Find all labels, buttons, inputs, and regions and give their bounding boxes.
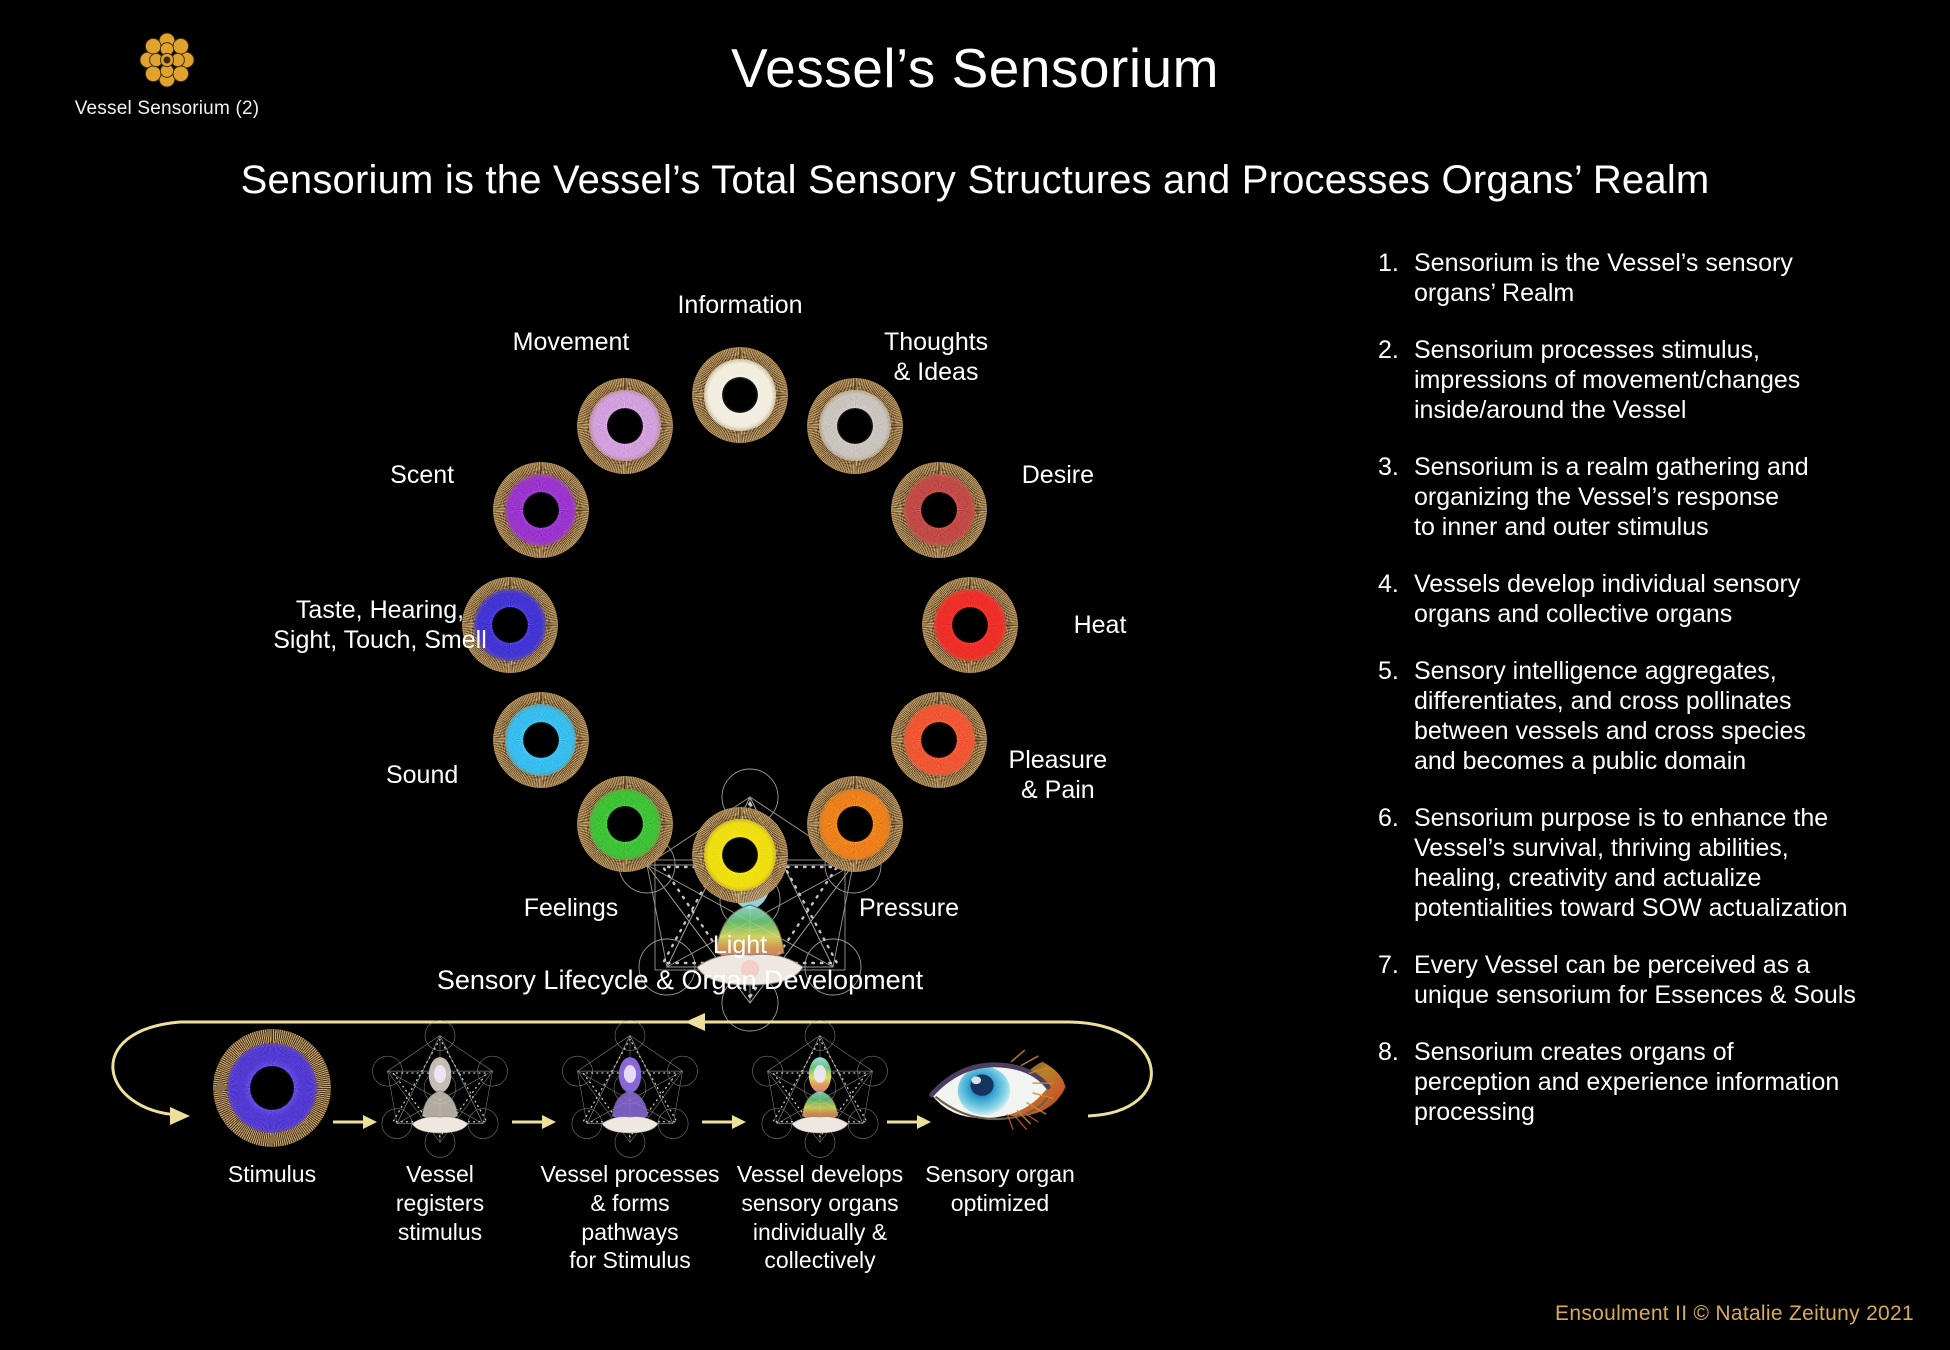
key-point-item: 1.Sensorium is the Vessel’s sensory orga… bbox=[1378, 248, 1938, 308]
lifecycle-step: Stimulus bbox=[182, 1028, 362, 1189]
sensory-eye-icon bbox=[577, 776, 673, 872]
sensory-eye-icon bbox=[692, 347, 788, 443]
metatron-figure-grey-icon bbox=[350, 1028, 530, 1148]
sensory-eye-icon bbox=[922, 577, 1018, 673]
sensory-eye-label: Scent bbox=[390, 460, 454, 490]
lifecycle-step-caption: Stimulus bbox=[182, 1160, 362, 1189]
key-point-item: 6.Sensorium purpose is to enhance the Ve… bbox=[1378, 803, 1938, 923]
key-point-number: 1. bbox=[1378, 248, 1414, 308]
key-point-text: Sensorium processes stimulus, impression… bbox=[1414, 335, 1938, 425]
key-point-number: 7. bbox=[1378, 950, 1414, 1010]
sensory-eye-label: Pressure bbox=[859, 893, 959, 923]
sensory-eye-label: Sound bbox=[386, 760, 458, 790]
sensory-eye-icon bbox=[493, 462, 589, 558]
metatron-figure-violet-icon bbox=[540, 1028, 720, 1148]
key-point-text: Vessels develop individual sensory organ… bbox=[1414, 569, 1938, 629]
sensory-eye-icon bbox=[577, 378, 673, 474]
sensory-eye-label: Heat bbox=[1074, 610, 1127, 640]
sensory-eye-icon bbox=[493, 692, 589, 788]
sensory-eye-label: Feelings bbox=[524, 893, 619, 923]
sensory-eye-label: Light bbox=[713, 930, 767, 960]
sensory-eye-icon bbox=[891, 462, 987, 558]
key-point-item: 7.Every Vessel can be perceived as a uni… bbox=[1378, 950, 1938, 1010]
poster-canvas: Vessel Sensorium (2) Vessel’s Sensorium … bbox=[0, 0, 1950, 1350]
sensory-eye-icon bbox=[807, 378, 903, 474]
page-title: Vessel’s Sensorium bbox=[0, 36, 1950, 100]
key-points-list: 1.Sensorium is the Vessel’s sensory orga… bbox=[1378, 248, 1938, 1154]
metatron-figure-rainbow-icon bbox=[730, 1028, 910, 1148]
sensory-eye-wheel: InformationThoughts & IdeasDesireHeatPle… bbox=[150, 300, 1330, 950]
sensory-eye-icon bbox=[692, 807, 788, 903]
sensory-eye-label: Thoughts & Ideas bbox=[884, 327, 988, 387]
lifecycle-step: Vessel processes & forms pathways for St… bbox=[540, 1028, 720, 1275]
lifecycle-step-caption: Sensory organ optimized bbox=[910, 1160, 1090, 1218]
painted-human-eye-icon bbox=[910, 1028, 1090, 1148]
key-point-number: 4. bbox=[1378, 569, 1414, 629]
sensory-eye-label: Desire bbox=[1022, 460, 1094, 490]
sensory-eye-icon bbox=[891, 692, 987, 788]
key-point-text: Sensory intelligence aggregates, differe… bbox=[1414, 656, 1938, 776]
page-subtitle: Sensorium is the Vessel’s Total Sensory … bbox=[60, 158, 1890, 203]
lifecycle-step-caption: Vessel processes & forms pathways for St… bbox=[540, 1160, 720, 1275]
key-point-text: Sensorium purpose is to enhance the Vess… bbox=[1414, 803, 1938, 923]
lifecycle-title: Sensory Lifecycle & Organ Development bbox=[60, 965, 1300, 996]
lifecycle-step: Sensory organ optimized bbox=[910, 1028, 1090, 1218]
sensory-eye-label: Information bbox=[677, 290, 802, 320]
key-point-number: 3. bbox=[1378, 452, 1414, 542]
key-point-item: 3.Sensorium is a realm gathering and org… bbox=[1378, 452, 1938, 542]
lifecycle-step: Vessel develops sensory organs individua… bbox=[730, 1028, 910, 1275]
key-point-number: 5. bbox=[1378, 656, 1414, 776]
sensory-eye-label: Pleasure & Pain bbox=[1009, 745, 1108, 805]
lifecycle-step-caption: Vessel registers stimulus bbox=[350, 1160, 530, 1246]
lifecycle-row: StimulusVessel registers stimulusVessel … bbox=[60, 1000, 1320, 1320]
copyright-footer: Ensoulment II © Natalie Zeituny 2021 bbox=[1555, 1302, 1914, 1326]
sensory-eye-label: Taste, Hearing, Sight, Touch, Smell bbox=[273, 595, 487, 655]
key-point-item: 2.Sensorium processes stimulus, impressi… bbox=[1378, 335, 1938, 425]
key-point-item: 8.Sensorium creates organs of perception… bbox=[1378, 1037, 1938, 1127]
key-point-text: Sensorium is a realm gathering and organ… bbox=[1414, 452, 1938, 542]
key-point-number: 2. bbox=[1378, 335, 1414, 425]
sensory-eye-icon bbox=[807, 776, 903, 872]
key-point-item: 4.Vessels develop individual sensory org… bbox=[1378, 569, 1938, 629]
sensory-eye-label: Movement bbox=[513, 327, 630, 357]
lifecycle-step: Vessel registers stimulus bbox=[350, 1028, 530, 1246]
key-point-text: Every Vessel can be perceived as a uniqu… bbox=[1414, 950, 1938, 1010]
lifecycle-step-caption: Vessel develops sensory organs individua… bbox=[730, 1160, 910, 1275]
key-point-text: Sensorium is the Vessel’s sensory organs… bbox=[1414, 248, 1938, 308]
key-point-number: 6. bbox=[1378, 803, 1414, 923]
brand-label: Vessel Sensorium (2) bbox=[32, 98, 302, 120]
key-point-item: 5.Sensory intelligence aggregates, diffe… bbox=[1378, 656, 1938, 776]
key-point-number: 8. bbox=[1378, 1037, 1414, 1127]
key-point-text: Sensorium creates organs of perception a… bbox=[1414, 1037, 1938, 1127]
